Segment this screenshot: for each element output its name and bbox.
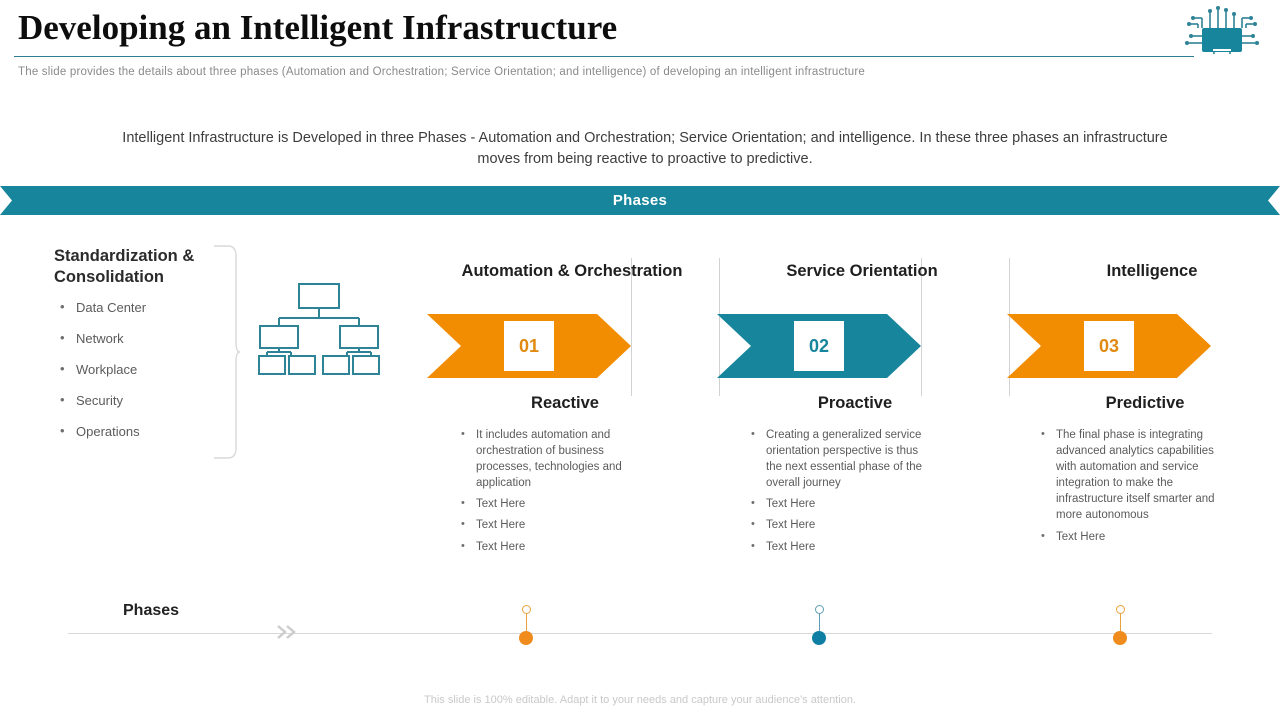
phase-bullet-list: It includes automation and orchestration… (457, 427, 639, 555)
timeline-label: Phases (123, 602, 179, 620)
timeline-marker-1 (517, 605, 535, 645)
phases-banner-label: Phases (613, 192, 667, 209)
double-chevron-icon (276, 623, 298, 641)
phase-arrow: 01 (427, 314, 717, 378)
intro-paragraph: Intelligent Infrastructure is Developed … (110, 128, 1180, 170)
list-item: Text Here (1037, 529, 1219, 545)
list-item: Text Here (747, 539, 929, 555)
phase-bullet-list: The final phase is integrating advanced … (1037, 427, 1219, 545)
list-item: The final phase is integrating advanced … (1037, 427, 1219, 524)
phase-card-1: Automation & Orchestration 01 Reactive I… (427, 260, 717, 560)
marker-ring-icon (1116, 605, 1125, 614)
list-item: Text Here (747, 517, 929, 533)
phase-state-label: Predictive (1007, 394, 1280, 413)
timeline-marker-2 (810, 605, 828, 645)
marker-stem (1120, 614, 1121, 631)
list-item: It includes automation and orchestration… (457, 427, 639, 491)
cpu-chip-icon (1180, 6, 1262, 58)
phase-number: 03 (1084, 321, 1134, 371)
footer-note: This slide is 100% editable. Adapt it to… (0, 694, 1280, 706)
phase-title: Automation & Orchestration (427, 260, 717, 306)
phase-number: 01 (504, 321, 554, 371)
phase-arrow: 02 (717, 314, 1007, 378)
phase-bullet-list: Creating a generalized service orientati… (747, 427, 929, 555)
page-title: Developing an Intelligent Infrastructure (18, 8, 617, 48)
list-item: Text Here (457, 496, 639, 512)
title-divider (14, 56, 1194, 57)
phases-banner: Phases (0, 186, 1280, 215)
marker-dot-icon (519, 631, 533, 645)
phase-card-2: Service Orientation 02 Proactive Creatin… (717, 260, 1007, 560)
list-item: Text Here (747, 496, 929, 512)
marker-ring-icon (522, 605, 531, 614)
timeline-axis (68, 633, 1212, 634)
org-chart-icon (258, 282, 380, 376)
marker-dot-icon (1113, 631, 1127, 645)
list-item: Creating a generalized service orientati… (747, 427, 929, 491)
phase-arrow: 03 (1007, 314, 1280, 378)
phase-state-label: Proactive (717, 394, 1007, 413)
phase-state-label: Reactive (427, 394, 717, 413)
marker-ring-icon (815, 605, 824, 614)
phase-title: Service Orientation (717, 260, 1007, 306)
list-item: Text Here (457, 517, 639, 533)
phase-title: Intelligence (1007, 260, 1280, 306)
marker-stem (819, 614, 820, 631)
phase-card-3: Intelligence 03 Predictive The final pha… (1007, 260, 1280, 550)
curly-brace-icon (210, 244, 240, 460)
timeline-marker-3 (1111, 605, 1129, 645)
phase-number: 02 (794, 321, 844, 371)
page-subtitle: The slide provides the details about thr… (18, 66, 1018, 78)
marker-stem (526, 614, 527, 631)
marker-dot-icon (812, 631, 826, 645)
list-item: Text Here (457, 539, 639, 555)
